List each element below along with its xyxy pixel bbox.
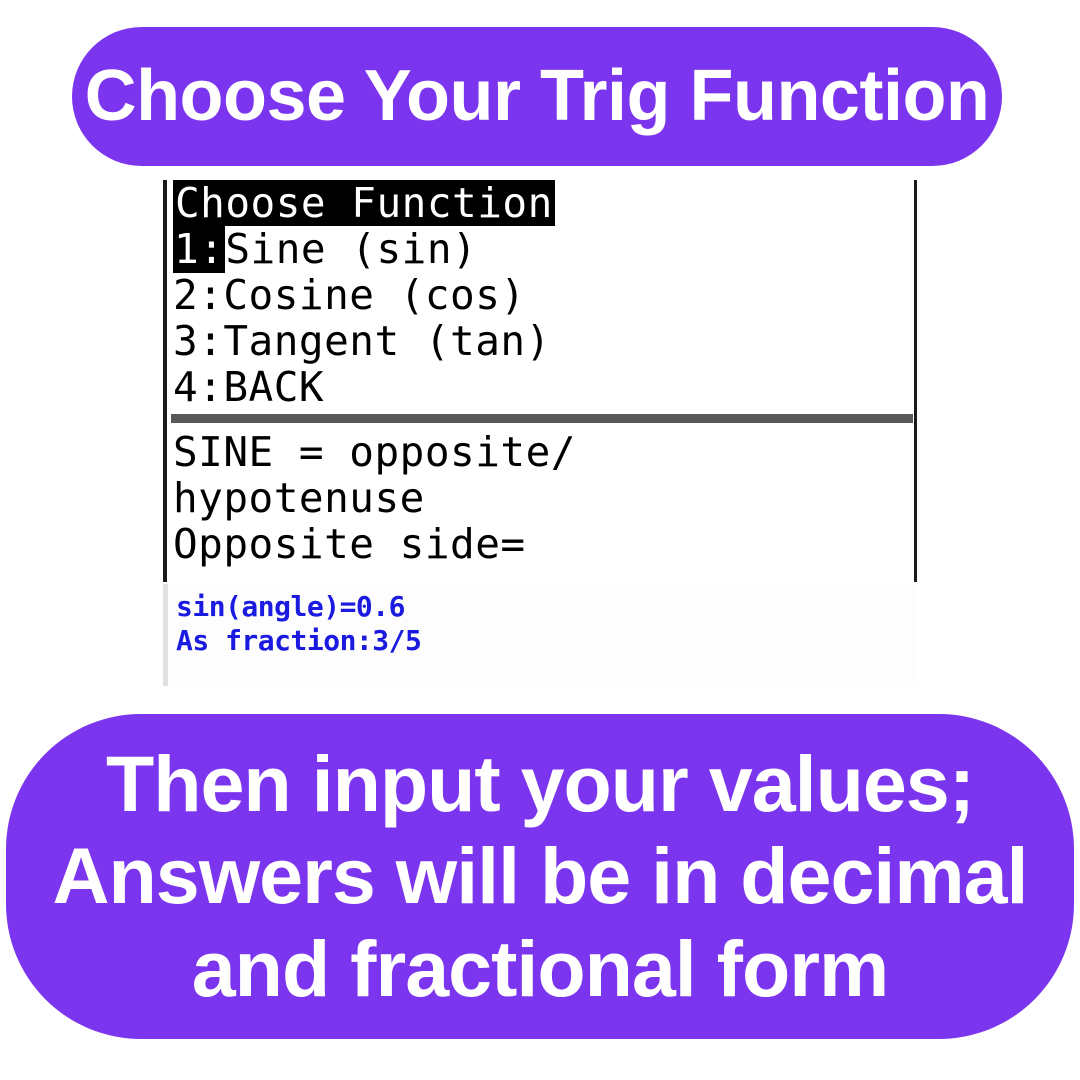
calculator-lcd-screen: Choose Function 1:Sine (sin) 2:Cosine (c…	[163, 180, 917, 582]
menu-item-back-label[interactable]: BACK	[223, 363, 324, 411]
menu-item-cosine-label[interactable]: Cosine (cos)	[223, 271, 525, 319]
menu-item-tangent-label[interactable]: Tangent (tan)	[223, 317, 550, 365]
opposite-side-prompt[interactable]: Opposite side=	[167, 521, 914, 567]
menu-item-sine-label[interactable]: Sine (sin)	[225, 225, 477, 273]
top-banner-text: Choose Your Trig Function	[85, 60, 990, 133]
formula-line-2: hypotenuse	[167, 475, 914, 521]
formula-line-1: SINE = opposite/	[167, 429, 914, 475]
answer-fraction: As fraction:3/5	[168, 624, 917, 658]
bottom-banner-line-1: Then input your values;	[106, 738, 974, 830]
menu-header-row: Choose Function	[167, 180, 914, 226]
menu-item-back-key[interactable]: 4:	[173, 363, 223, 411]
menu-item-cosine-key[interactable]: 2:	[173, 271, 223, 319]
menu-item-cosine[interactable]: 2:Cosine (cos)	[167, 272, 914, 318]
menu-item-sine-key[interactable]: 1:	[173, 225, 225, 273]
bottom-banner-line-2: Answers will be in decimal	[52, 830, 1027, 922]
menu-header-label: Choose Function	[173, 180, 555, 226]
menu-item-tangent-key[interactable]: 3:	[173, 317, 223, 365]
answer-decimal: sin(angle)=0.6	[168, 590, 917, 624]
top-instruction-banner: Choose Your Trig Function	[72, 27, 1002, 166]
menu-item-tangent[interactable]: 3:Tangent (tan)	[167, 318, 914, 364]
calculator-answer-pane: sin(angle)=0.6 As fraction:3/5	[163, 584, 917, 686]
calculator-screenshot: Choose Function 1:Sine (sin) 2:Cosine (c…	[163, 180, 917, 686]
menu-divider-bar	[171, 414, 913, 423]
menu-item-sine[interactable]: 1:Sine (sin)	[167, 226, 914, 272]
bottom-instruction-banner: Then input your values; Answers will be …	[6, 714, 1074, 1039]
bottom-banner-line-3: and fractional form	[192, 923, 888, 1015]
menu-item-back[interactable]: 4:BACK	[167, 364, 914, 410]
